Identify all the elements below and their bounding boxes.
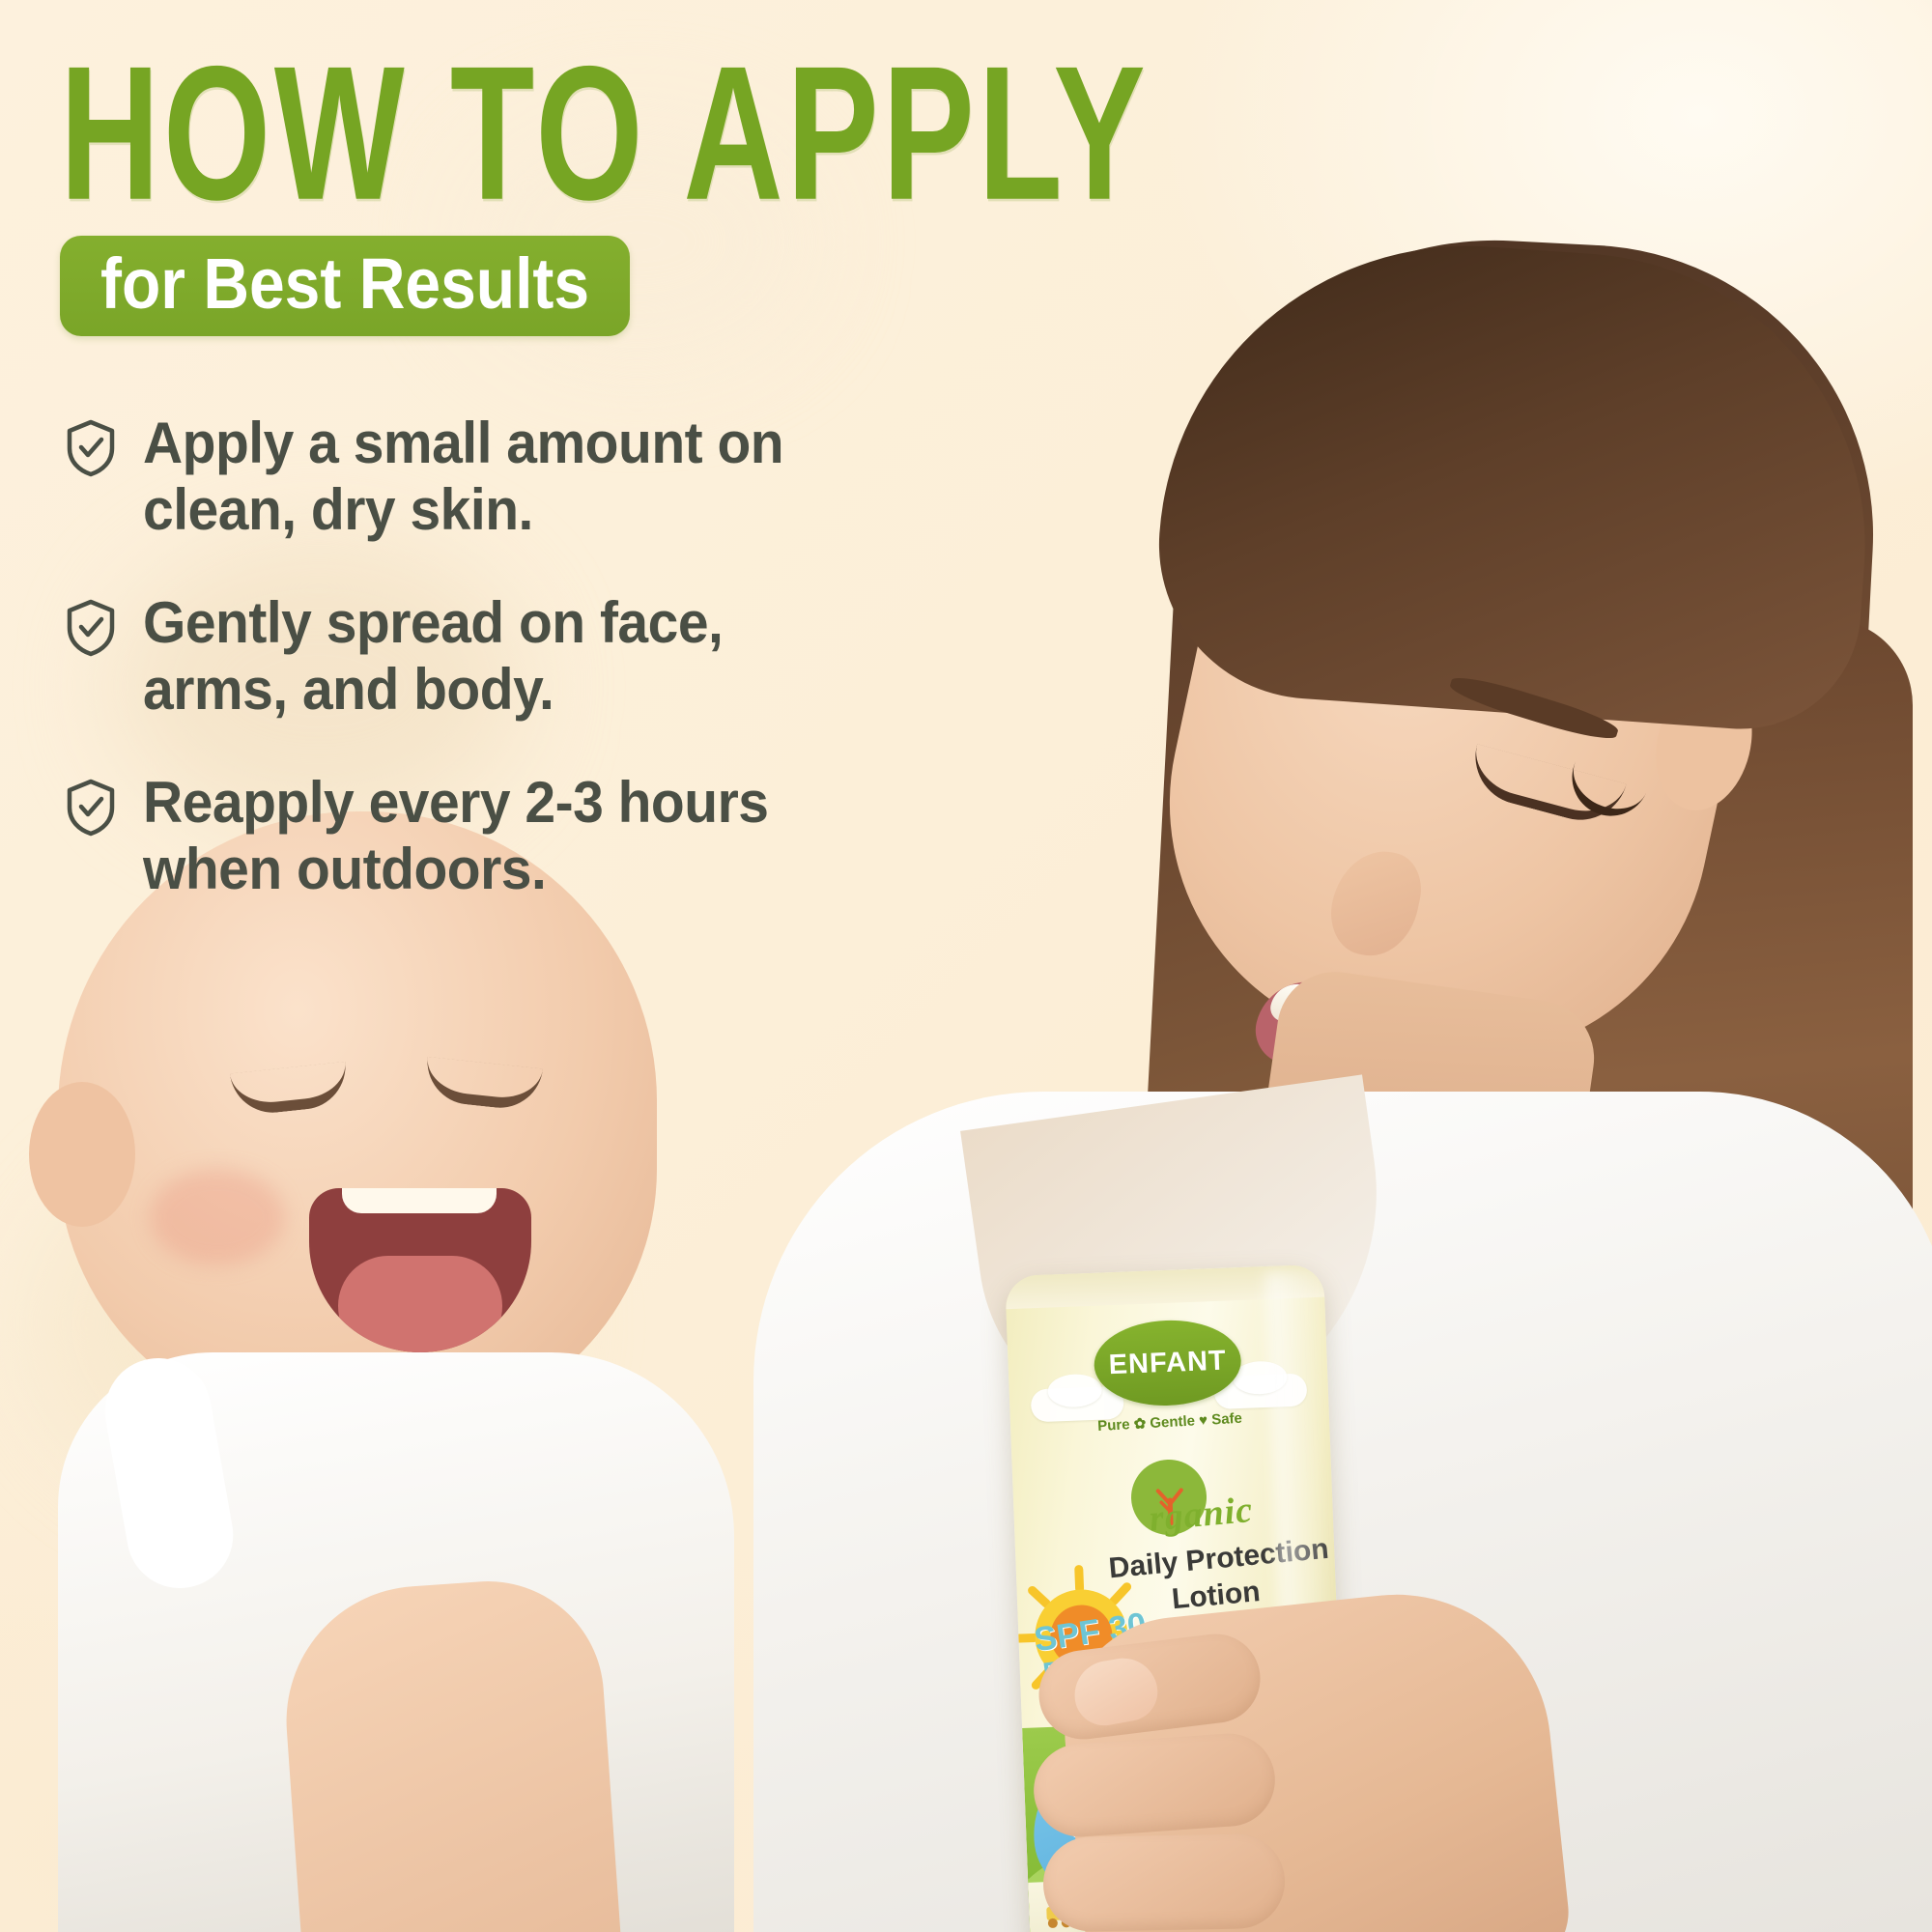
woman-nose	[1323, 842, 1429, 964]
list-item: Apply a small amount on clean, dry skin.	[64, 411, 952, 536]
baby-char-diaper	[1189, 1837, 1246, 1872]
baby-char-leg-right	[1224, 1861, 1254, 1900]
product-tube: ENFANT Pure ✿ Gentle ♥ Safe rganic Daily…	[1005, 1264, 1350, 1932]
butterfly-icon	[1236, 1794, 1265, 1820]
subtitle-badge-label: for Best Results	[100, 247, 589, 319]
tree-icon	[1148, 1478, 1192, 1526]
cloud-icon	[1047, 1374, 1102, 1408]
tube-highlight	[1265, 1270, 1343, 1921]
grass-icon	[1306, 1832, 1314, 1857]
product-name-line-2: Lotion	[1171, 1576, 1262, 1616]
finger	[1031, 1730, 1278, 1839]
toy-train-icon	[1044, 1893, 1151, 1930]
shield-check-icon	[64, 598, 118, 658]
page-title: HOW TO APPLY	[60, 41, 1113, 228]
tube-bottom-band: * Dermatologically Tested	[1028, 1870, 1350, 1932]
shield-check-icon	[64, 778, 118, 838]
infographic-canvas: ENFANT Pure ✿ Gentle ♥ Safe rganic Daily…	[0, 0, 1932, 1932]
baby-char-mouth	[1198, 1765, 1236, 1791]
baby-ear	[29, 1082, 135, 1227]
list-item: Gently spread on face, arms, and body.	[64, 590, 952, 716]
baby-mouth	[309, 1188, 531, 1352]
baby-shirt-strap	[97, 1350, 241, 1596]
certification-seal	[1271, 1807, 1331, 1867]
derma-note: * Dermatologically Tested	[1068, 1924, 1221, 1932]
baby-cheek	[150, 1169, 285, 1265]
woman-face	[1124, 337, 1792, 1101]
organic-badge-circle	[1130, 1459, 1208, 1537]
woman-hair-front	[1149, 225, 1885, 737]
bg-blotch	[39, 1140, 541, 1507]
sun-icon	[1007, 1561, 1157, 1712]
elephant-illustration	[1031, 1747, 1206, 1898]
grass-icon	[1293, 1816, 1301, 1857]
baby-char-body	[1185, 1793, 1247, 1855]
finger	[1042, 1833, 1286, 1932]
woman-shirt	[753, 1092, 1932, 1932]
brand-tagline: Pure ✿ Gentle ♥ Safe	[1097, 1409, 1243, 1435]
woman-teeth	[1267, 979, 1464, 1065]
baby-eye-left	[230, 1062, 350, 1117]
woman-eyelash	[1560, 759, 1648, 829]
hill-shape	[1022, 1837, 1264, 1932]
baby-arm	[277, 1574, 621, 1932]
pa-rating: PA+++	[1041, 1646, 1131, 1690]
baby-eye-right	[423, 1057, 543, 1112]
product-claims: Extra Care for Face & Body Ultra Sheer L…	[1186, 1618, 1282, 1718]
spf-value: SPF 30	[1032, 1605, 1149, 1660]
baby-character-illustration	[1153, 1728, 1277, 1895]
elephant-trunk	[1131, 1820, 1197, 1932]
shield-check-icon	[64, 418, 118, 478]
grass-icon	[1279, 1829, 1287, 1858]
tube-body: ENFANT Pure ✿ Gentle ♥ Safe rganic Daily…	[1005, 1264, 1350, 1932]
list-item-label: Apply a small amount on clean, dry skin.	[143, 411, 783, 544]
subtitle-badge: for Best Results	[60, 236, 630, 336]
woman-mouth	[1248, 971, 1475, 1107]
baby-teeth	[342, 1188, 497, 1213]
baby-char-head	[1173, 1729, 1255, 1805]
brand-name: ENFANT	[1108, 1345, 1227, 1381]
baby-char-cheek-left	[1177, 1774, 1192, 1785]
baby-char-arm-left	[1159, 1802, 1192, 1844]
tube-cap	[1075, 1924, 1307, 1932]
fingernail	[1069, 1653, 1162, 1730]
elephant-tusk	[1086, 1873, 1137, 1896]
woman-eyebrow	[1447, 670, 1621, 745]
list-item-label: Gently spread on face, arms, and body.	[143, 590, 723, 724]
woman-hand	[1053, 1579, 1574, 1932]
baby-char-eye-right	[1222, 1755, 1230, 1765]
woman-eye	[1464, 744, 1626, 831]
tube-crimp	[1005, 1264, 1324, 1310]
baby-char-leg-left	[1180, 1862, 1207, 1901]
cloud-icon	[1213, 1373, 1307, 1409]
woman-collar	[960, 1074, 1406, 1446]
woman-hair-right	[1507, 618, 1913, 1758]
elephant-eye	[1068, 1816, 1091, 1838]
tube-illustration-scene: * Dermatologically Tested	[1022, 1716, 1350, 1932]
baby-char-eye-left	[1187, 1756, 1195, 1766]
list-item: Reapply every 2-3 hours when outdoors.	[64, 770, 952, 895]
woman-hair-back	[1126, 224, 1889, 1544]
brand-logo: ENFANT	[1093, 1318, 1242, 1408]
steps-list: Apply a small amount on clean, dry skin.…	[64, 411, 952, 950]
baby-tongue	[338, 1256, 502, 1352]
woman-neck	[1248, 964, 1602, 1276]
finger	[1034, 1629, 1264, 1744]
baby-body	[58, 1352, 734, 1932]
list-item-label: Reapply every 2-3 hours when outdoors.	[143, 770, 768, 903]
cloud-icon	[1233, 1360, 1288, 1395]
product-name-line-1: Daily Protection	[1107, 1533, 1330, 1586]
title-block: HOW TO APPLY	[60, 41, 1180, 185]
baby-char-arm-right	[1236, 1799, 1272, 1840]
organic-label: rganic	[1148, 1489, 1255, 1541]
baby-char-cheek-right	[1231, 1772, 1246, 1783]
cloud-icon	[1031, 1386, 1124, 1423]
woman-ear	[1642, 667, 1765, 820]
